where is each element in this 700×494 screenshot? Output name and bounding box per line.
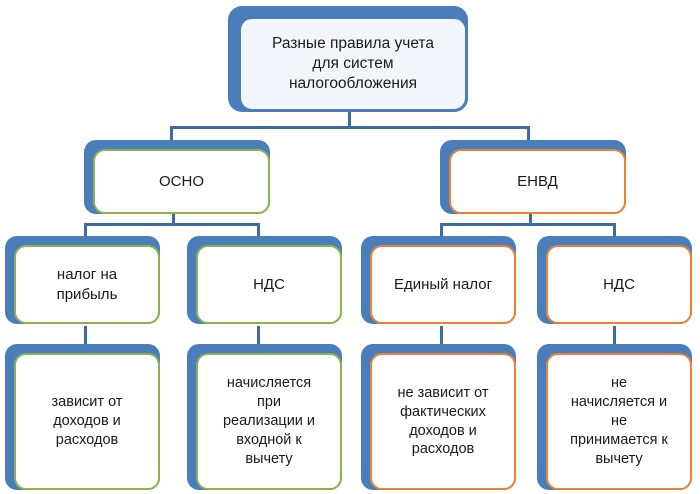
node-nds-envd-detail-card[interactable]: не начисляется и не принимается к вычету [546,353,692,490]
node-ediniy-nalog-detail-label: не зависит от фактических доходов и расх… [372,384,514,459]
connector-envd-bus [440,223,616,226]
connector-to-nds-envd [613,223,616,237]
connector-level2-bus [170,126,530,129]
connector-to-ediniy-nalog [440,223,443,237]
connector-nds-osno-detail [257,326,260,344]
node-nds-osno-detail[interactable]: начисляется при реализации и входной к в… [187,344,342,490]
connector-osno-bus [84,223,260,226]
node-nalog-na-pribyl-detail-label: зависит от доходов и расходов [16,393,158,450]
node-envd[interactable]: ЕНВД [440,140,626,214]
node-ediniy-nalog[interactable]: Единый налог [361,236,516,324]
node-nds-osno-label: НДС [198,275,340,295]
node-root-label: Разные правила учета для систем налогооб… [241,34,465,94]
node-nalog-na-pribyl-card[interactable]: налог на прибыль [14,245,160,324]
node-nds-envd[interactable]: НДС [537,236,692,324]
node-nalog-na-pribyl-detail[interactable]: зависит от доходов и расходов [5,344,160,490]
node-nalog-na-pribyl-label: налог на прибыль [16,265,158,304]
node-nds-osno-card[interactable]: НДС [196,245,342,324]
node-osno[interactable]: ОСНО [84,140,270,214]
node-root-card[interactable]: Разные правила учета для систем налогооб… [238,16,468,112]
connector-to-nds-osno [257,223,260,237]
node-nds-osno-detail-card[interactable]: начисляется при реализации и входной к в… [196,353,342,490]
node-osno-card[interactable]: ОСНО [93,149,270,214]
node-root[interactable]: Разные правила учета для систем налогооб… [228,6,468,112]
node-ediniy-nalog-detail[interactable]: не зависит от фактических доходов и расх… [361,344,516,490]
node-nds-envd-card[interactable]: НДС [546,245,692,324]
node-ediniy-nalog-card[interactable]: Единый налог [370,245,516,324]
node-nds-envd-label: НДС [548,275,690,295]
connector-to-nalog-na-pribyl [84,223,87,237]
node-nds-osno[interactable]: НДС [187,236,342,324]
connector-nalog-na-pribyl-detail [84,326,87,344]
flowchart-canvas: Разные правила учета для систем налогооб… [0,0,700,494]
node-envd-label: ЕНВД [451,172,624,192]
node-nds-envd-detail-label: не начисляется и не принимается к вычету [548,374,690,468]
connector-ediniy-nalog-detail [440,326,443,344]
node-nds-envd-detail[interactable]: не начисляется и не принимается к вычету [537,344,692,490]
node-nds-osno-detail-label: начисляется при реализации и входной к в… [198,374,340,468]
connector-nds-envd-detail [613,326,616,344]
node-envd-card[interactable]: ЕНВД [449,149,626,214]
node-ediniy-nalog-detail-card[interactable]: не зависит от фактических доходов и расх… [370,353,516,490]
node-nalog-na-pribyl[interactable]: налог на прибыль [5,236,160,324]
node-nalog-na-pribyl-detail-card[interactable]: зависит от доходов и расходов [14,353,160,490]
node-osno-label: ОСНО [95,172,268,192]
node-ediniy-nalog-label: Единый налог [372,275,514,295]
